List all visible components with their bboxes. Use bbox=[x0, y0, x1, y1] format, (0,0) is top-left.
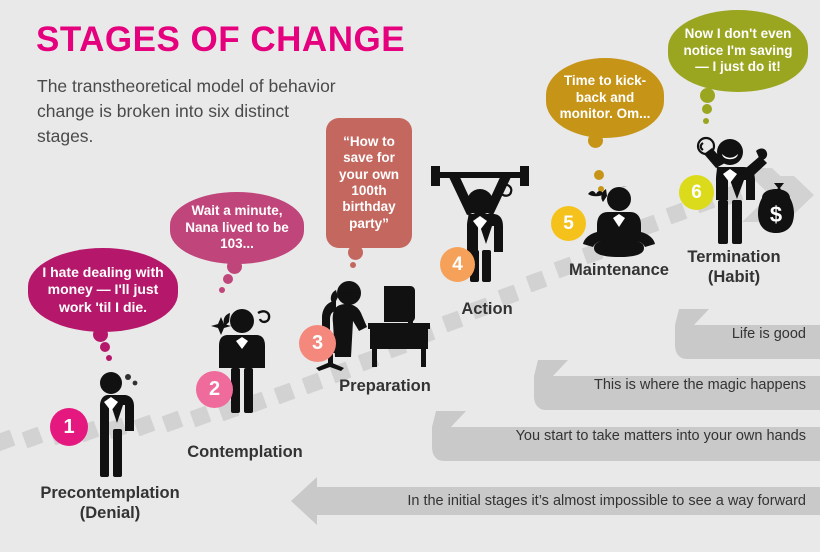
bubble-tail bbox=[100, 342, 110, 352]
speech-bubble-stage-1: I hate dealing with money — I'll just wo… bbox=[28, 248, 178, 332]
speech-bubble-text: Wait a minute, Nana lived to be 103... bbox=[170, 192, 304, 264]
speech-bubble-text: Time to kick-back and monitor. Om... bbox=[546, 58, 664, 138]
stage-label-line1: Action bbox=[432, 300, 542, 320]
page-title: STAGES OF CHANGE bbox=[36, 22, 405, 59]
bubble-tail bbox=[594, 170, 604, 180]
speech-bubble-stage-6: Now I don't even notice I'm saving — I j… bbox=[668, 10, 808, 92]
svg-text:$: $ bbox=[770, 202, 782, 227]
stage-label-line1: Precontemplation bbox=[10, 484, 210, 504]
bubble-tail bbox=[219, 287, 225, 293]
speech-bubble-text: Now I don't even notice I'm saving — I j… bbox=[668, 10, 808, 92]
speech-bubble-stage-5: Time to kick-back and monitor. Om... bbox=[546, 58, 664, 138]
stage-label-line2: (Denial) bbox=[10, 504, 210, 524]
stage-label-line1: Contemplation bbox=[160, 443, 330, 463]
banner-label: In the initial stages it’s almost imposs… bbox=[407, 477, 806, 525]
bubble-tail bbox=[227, 259, 242, 274]
banner-label: This is where the magic happens bbox=[594, 360, 806, 410]
speech-bubble-text: I hate dealing with money — I'll just wo… bbox=[28, 248, 178, 332]
bubble-tail bbox=[350, 262, 356, 268]
stage-label-1: Precontemplation (Denial) bbox=[10, 484, 210, 524]
banner-label: Life is good bbox=[732, 309, 806, 359]
badge-number: 4 bbox=[452, 254, 463, 276]
stage-badge-4[interactable]: 4 bbox=[440, 247, 475, 282]
banner-label: You start to take matters into your own … bbox=[516, 411, 806, 461]
badge-number: 5 bbox=[563, 213, 574, 235]
badge-number: 3 bbox=[312, 332, 323, 355]
stage-badge-6[interactable]: 6 bbox=[679, 175, 714, 210]
bubble-tail bbox=[702, 104, 712, 114]
stage-label-4: Action bbox=[432, 300, 542, 320]
banner-own-hands: You start to take matters into your own … bbox=[410, 411, 820, 461]
person-meditating-icon bbox=[578, 186, 660, 268]
stage-label-3: Preparation bbox=[300, 377, 470, 397]
bubble-tail bbox=[93, 327, 108, 342]
badge-number: 1 bbox=[63, 416, 74, 439]
stage-label-line1: Termination bbox=[654, 248, 814, 268]
bubble-tail bbox=[348, 245, 363, 260]
banner-magic-happens: This is where the magic happens bbox=[512, 360, 820, 410]
banner-life-is-good: Life is good bbox=[653, 309, 820, 359]
page-subtitle: The transtheoretical model of behavior c… bbox=[37, 74, 337, 149]
stage-badge-3[interactable]: 3 bbox=[299, 325, 336, 362]
speech-bubble-stage-2: Wait a minute, Nana lived to be 103... bbox=[170, 192, 304, 264]
speech-bubble-stage-3: “How to save for your own 100th birthday… bbox=[326, 118, 412, 248]
person-at-desk-icon bbox=[312, 278, 434, 374]
stage-label-6: Termination (Habit) bbox=[654, 248, 814, 288]
bubble-tail bbox=[703, 118, 709, 124]
banner-way-forward: In the initial stages it’s almost imposs… bbox=[291, 477, 820, 525]
bubble-tail bbox=[223, 274, 233, 284]
person-standing-icon bbox=[80, 371, 142, 481]
bubble-tail bbox=[106, 355, 112, 361]
stage-badge-2[interactable]: 2 bbox=[196, 371, 233, 408]
stage-badge-5[interactable]: 5 bbox=[551, 206, 586, 241]
speech-bubble-text: “How to save for your own 100th birthday… bbox=[326, 118, 412, 248]
infographic-canvas: STAGES OF CHANGE The transtheoretical mo… bbox=[0, 0, 820, 552]
stage-label-2: Contemplation bbox=[160, 443, 330, 463]
bubble-tail bbox=[700, 88, 715, 103]
badge-number: 6 bbox=[691, 182, 702, 204]
badge-number: 2 bbox=[209, 378, 220, 401]
stage-label-line2: (Habit) bbox=[654, 268, 814, 288]
stage-label-line1: Preparation bbox=[300, 377, 470, 397]
bubble-tail bbox=[588, 133, 603, 148]
stage-badge-1[interactable]: 1 bbox=[50, 408, 88, 446]
